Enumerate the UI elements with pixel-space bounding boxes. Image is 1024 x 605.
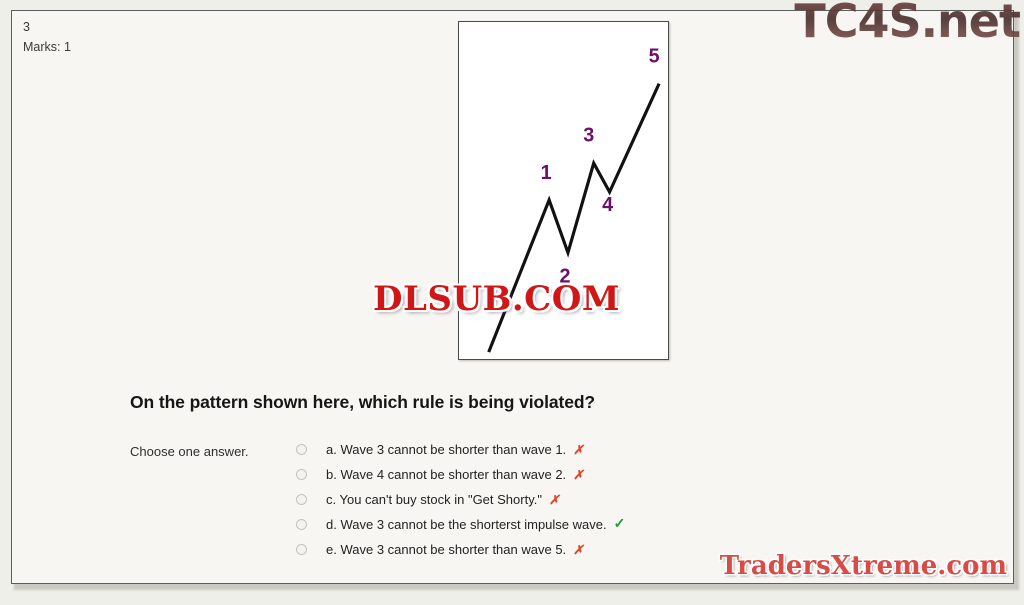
question-marks: Marks: 1 bbox=[23, 37, 71, 57]
radio-button-a[interactable] bbox=[296, 444, 307, 455]
answer-option-e[interactable]: e. Wave 3 cannot be shorter than wave 5.… bbox=[296, 537, 625, 562]
answer-option-label: c. You can't buy stock in "Get Shorty." bbox=[326, 492, 542, 507]
correct-check-icon: ✓ bbox=[614, 516, 626, 533]
wave-label-2: 2 bbox=[559, 265, 570, 287]
wave-label-5: 5 bbox=[649, 46, 660, 68]
incorrect-cross-icon: ✗ bbox=[549, 492, 559, 508]
watermark-tradersxtreme: TradersXtreme.com bbox=[720, 551, 1007, 581]
incorrect-cross-icon: ✗ bbox=[573, 442, 583, 458]
screenshot-root: 3 Marks: 1 12345 On the pattern shown he… bbox=[0, 0, 1024, 605]
question-number: 3 bbox=[23, 17, 71, 37]
quiz-question-panel: 3 Marks: 1 12345 On the pattern shown he… bbox=[11, 10, 1014, 584]
incorrect-cross-icon: ✗ bbox=[573, 467, 583, 483]
answer-option-c[interactable]: c. You can't buy stock in "Get Shorty."✗ bbox=[296, 487, 625, 512]
wave-label-1: 1 bbox=[541, 162, 552, 184]
radio-button-d[interactable] bbox=[296, 519, 307, 530]
impulse-wave-polyline bbox=[489, 84, 659, 352]
radio-button-b[interactable] bbox=[296, 469, 307, 480]
elliott-wave-figure: 12345 bbox=[458, 21, 669, 360]
wave-label-4: 4 bbox=[602, 194, 613, 216]
answer-option-label: a. Wave 3 cannot be shorter than wave 1. bbox=[326, 442, 566, 457]
answer-option-list: a. Wave 3 cannot be shorter than wave 1.… bbox=[296, 437, 625, 562]
answer-option-label: b. Wave 4 cannot be shorter than wave 2. bbox=[326, 467, 566, 482]
question-stem: On the pattern shown here, which rule is… bbox=[130, 392, 595, 413]
answer-option-label: e. Wave 3 cannot be shorter than wave 5. bbox=[326, 542, 566, 557]
answer-option-d[interactable]: d. Wave 3 cannot be the shorterst impuls… bbox=[296, 512, 625, 537]
radio-button-c[interactable] bbox=[296, 494, 307, 505]
choose-one-answer-label: Choose one answer. bbox=[130, 444, 249, 459]
answer-option-label: d. Wave 3 cannot be the shorterst impuls… bbox=[326, 517, 607, 532]
incorrect-cross-icon: ✗ bbox=[573, 542, 583, 558]
answer-option-b[interactable]: b. Wave 4 cannot be shorter than wave 2.… bbox=[296, 462, 625, 487]
question-meta: 3 Marks: 1 bbox=[23, 17, 71, 57]
wave-diagram-svg: 12345 bbox=[459, 22, 668, 359]
wave-label-group: 12345 bbox=[541, 46, 660, 288]
answer-option-a[interactable]: a. Wave 3 cannot be shorter than wave 1.… bbox=[296, 437, 625, 462]
radio-button-e[interactable] bbox=[296, 544, 307, 555]
wave-label-3: 3 bbox=[583, 124, 594, 146]
